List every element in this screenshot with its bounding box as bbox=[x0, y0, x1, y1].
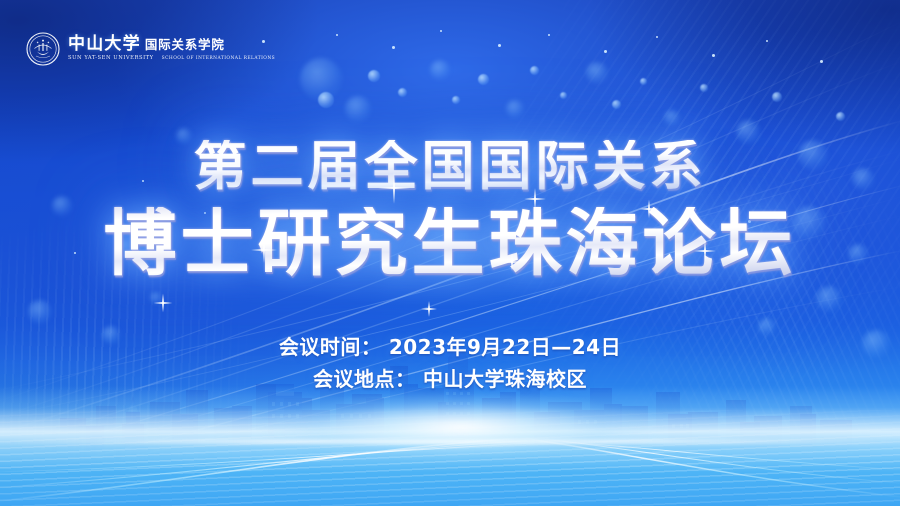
conference-poster: 中山大学 国际关系学院 SUN YAT-SEN UNIVERSITY SCHOO… bbox=[0, 0, 900, 506]
sysu-crest-icon bbox=[26, 32, 60, 66]
logo-school-name-en: SCHOOL OF INTERNATIONAL RELATIONS bbox=[162, 57, 275, 61]
title-line-2: 博士研究生珠海论坛 bbox=[0, 207, 900, 280]
conference-time: 会议时间： 2023年9月22日—24日 bbox=[0, 337, 900, 357]
university-logo[interactable]: 中山大学 国际关系学院 SUN YAT-SEN UNIVERSITY SCHOO… bbox=[26, 32, 275, 66]
title-line-1: 第二届全国国际关系 bbox=[0, 140, 900, 193]
conference-place: 会议地点： 中山大学珠海校区 bbox=[0, 369, 900, 389]
logo-university-name-en: SUN YAT-SEN UNIVERSITY bbox=[68, 56, 154, 61]
logo-school-name-cn: 国际关系学院 bbox=[145, 39, 225, 52]
conference-info: 会议时间： 2023年9月22日—24日 会议地点： 中山大学珠海校区 bbox=[0, 337, 900, 389]
logo-english-row: SUN YAT-SEN UNIVERSITY SCHOOL OF INTERNA… bbox=[68, 56, 275, 61]
perspective-road-lines bbox=[0, 426, 900, 506]
logo-chinese-row: 中山大学 国际关系学院 bbox=[68, 36, 275, 53]
poster-title: 第二届全国国际关系 博士研究生珠海论坛 bbox=[0, 140, 900, 280]
logo-university-name-cn: 中山大学 bbox=[68, 36, 141, 53]
logo-text-block: 中山大学 国际关系学院 SUN YAT-SEN UNIVERSITY SCHOO… bbox=[68, 36, 275, 61]
